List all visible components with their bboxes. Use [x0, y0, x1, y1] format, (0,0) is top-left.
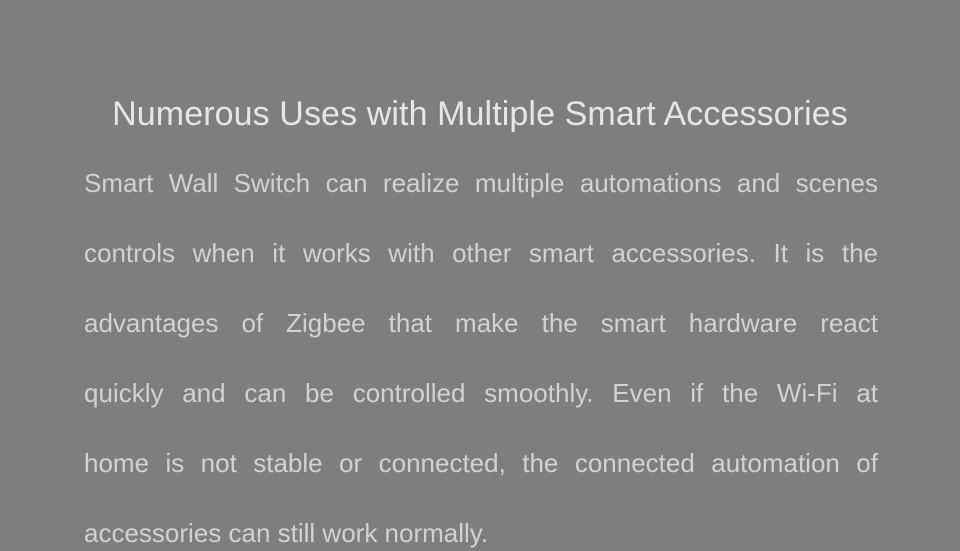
description-paragraph: Smart Wall Switch can realize multiple a…	[84, 166, 878, 551]
paragraph-line: Smart Wall Switch can realize multiple a…	[84, 166, 878, 236]
paragraph-line: home is not stable or connected, the con…	[84, 446, 878, 516]
paragraph-line: quickly and can be controlled smoothly. …	[84, 376, 878, 446]
paragraph-line: controls when it works with other smart …	[84, 236, 878, 306]
paragraph-line: accessories can still work normally.	[84, 516, 878, 551]
page-title: Numerous Uses with Multiple Smart Access…	[0, 92, 960, 136]
paragraph-line: advantages of Zigbee that make the smart…	[84, 306, 878, 376]
feature-banner: Numerous Uses with Multiple Smart Access…	[0, 0, 960, 448]
